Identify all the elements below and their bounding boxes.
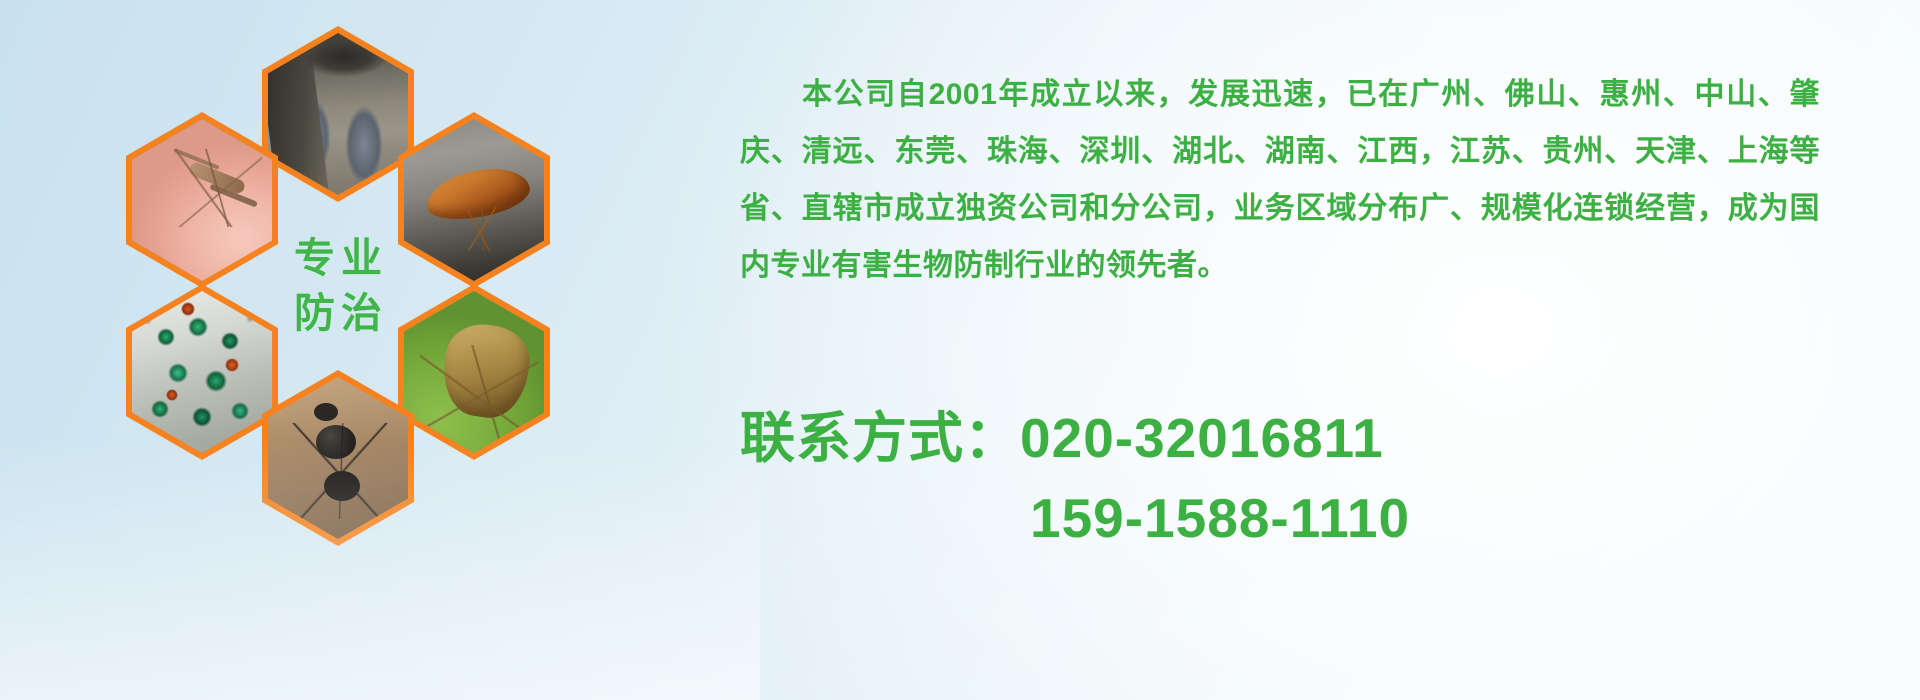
- rats-image: [268, 33, 408, 195]
- hex-photo-mosquito: [126, 112, 278, 288]
- promo-banner: 专业 防治 本公司自2001年成立以来，发展迅速，已在广州、佛山、惠州、中山、肇…: [0, 0, 1920, 700]
- contact-block: 联系方式：020-32016811 159-1588-1110: [740, 398, 1820, 558]
- hex-photo-cockroach: [398, 112, 550, 288]
- contact-phone-secondary[interactable]: 159-1588-1110: [740, 478, 1820, 558]
- hex-photo-rats: [262, 26, 414, 202]
- hex-photo-ant: [262, 370, 414, 546]
- hex-photo-mosquito-frame: [132, 119, 272, 281]
- ant-image: [268, 377, 408, 539]
- mosquito-image: [132, 119, 272, 281]
- contact-phone-primary[interactable]: 020-32016811: [1020, 407, 1384, 469]
- hex-photo-rats-frame: [268, 33, 408, 195]
- honeycomb-photo-cluster: 专业 防治: [86, 8, 596, 568]
- hex-photo-flies-frame: [132, 291, 272, 453]
- stinkbug-image: [404, 291, 544, 453]
- hex-photo-ant-frame: [268, 377, 408, 539]
- hex-photo-flies: [126, 284, 278, 460]
- slogan-hex: 专业 防治: [262, 198, 414, 374]
- slogan-line-1: 专业: [288, 231, 388, 286]
- contact-label: 联系方式：: [740, 407, 1020, 469]
- hex-photo-stinkbug-frame: [404, 291, 544, 453]
- slogan-line-2: 防治: [288, 286, 388, 341]
- hex-photo-stinkbug: [398, 284, 550, 460]
- cockroach-image: [404, 119, 544, 281]
- company-intro-paragraph: 本公司自2001年成立以来，发展迅速，已在广州、佛山、惠州、中山、肇庆、清远、东…: [740, 66, 1820, 294]
- contact-primary-line: 联系方式：020-32016811: [740, 398, 1820, 478]
- banner-content: 本公司自2001年成立以来，发展迅速，已在广州、佛山、惠州、中山、肇庆、清远、东…: [740, 0, 1870, 700]
- flies-image: [132, 291, 272, 453]
- hex-photo-cockroach-frame: [404, 119, 544, 281]
